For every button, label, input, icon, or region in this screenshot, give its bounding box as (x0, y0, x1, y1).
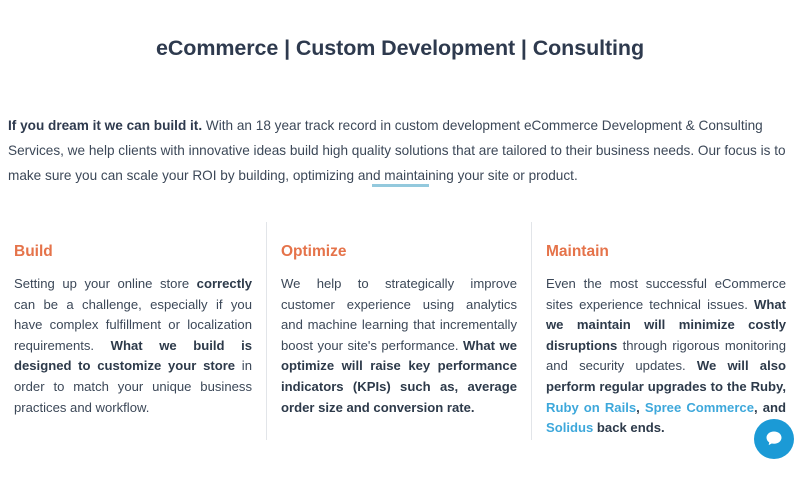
bold-text-run: , and (754, 400, 786, 415)
inline-link[interactable]: Spree Commerce (645, 400, 754, 415)
intro-lead-bold: If you dream it we can build it. (8, 118, 202, 133)
chat-widget-button[interactable] (754, 419, 794, 459)
feature-column-maintain: Maintain Even the most successful eComme… (531, 222, 800, 440)
column-body-maintain: Even the most successful eCommerce sites… (546, 274, 786, 439)
column-heading-optimize: Optimize (281, 242, 517, 262)
feature-column-optimize: Optimize We help to strategically improv… (266, 222, 531, 440)
feature-column-build: Build Setting up your online store corre… (0, 222, 266, 440)
bold-text-run: , (636, 400, 645, 415)
page-title: eCommerce | Custom Development | Consult… (0, 36, 800, 61)
column-heading-build: Build (14, 242, 252, 262)
bold-text-run: correctly (197, 276, 252, 291)
intro-paragraph: If you dream it we can build it. With an… (8, 113, 792, 188)
section-divider-rule (372, 184, 429, 187)
text-run: Setting up your online store (14, 276, 197, 291)
column-body-optimize: We help to strategically improve custome… (281, 274, 517, 418)
inline-link[interactable]: Ruby on Rails (546, 400, 636, 415)
column-heading-maintain: Maintain (546, 242, 786, 262)
inline-link[interactable]: Solidus (546, 420, 593, 435)
text-run: Even the most successful eCommerce sites… (546, 276, 786, 312)
bold-text-run: back ends. (593, 420, 664, 435)
column-body-build: Setting up your online store correctly c… (14, 274, 252, 418)
feature-columns: Build Setting up your online store corre… (0, 222, 800, 462)
chat-bubble-icon (764, 429, 784, 449)
page-root: eCommerce | Custom Development | Consult… (0, 0, 800, 480)
